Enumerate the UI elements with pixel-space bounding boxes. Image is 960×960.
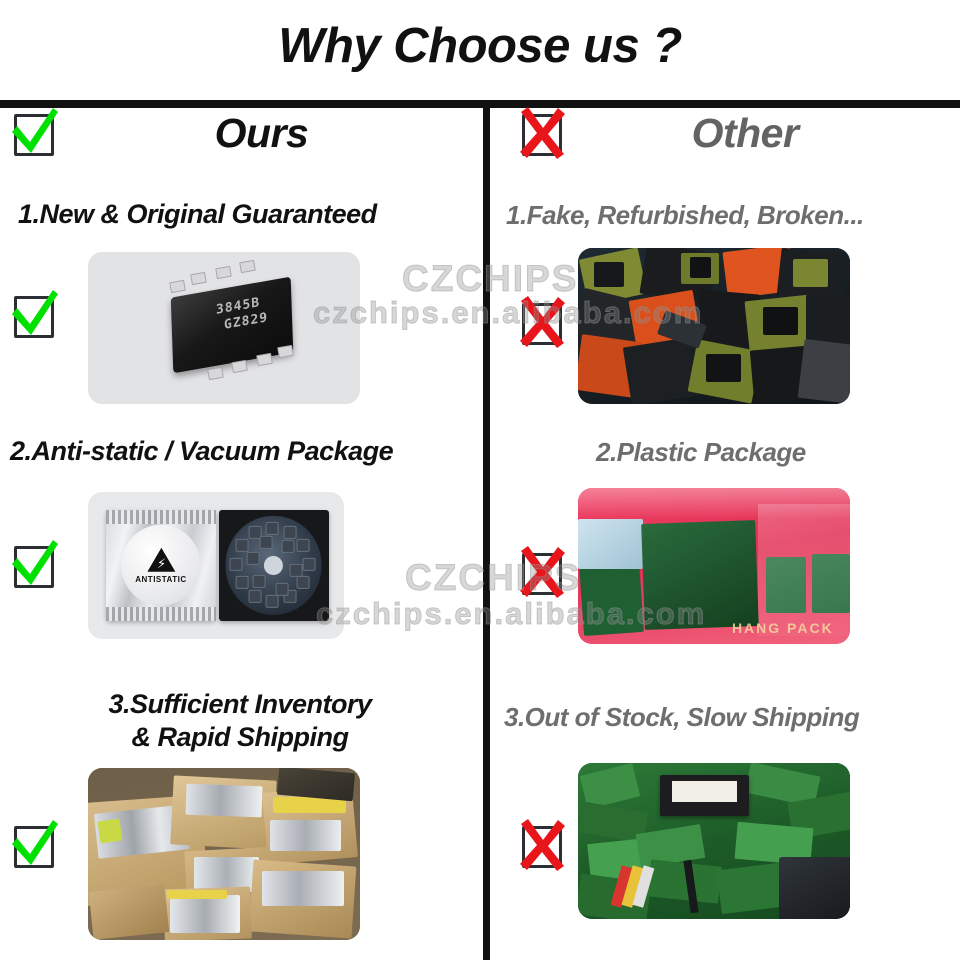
scrap-chips-photo — [578, 248, 850, 404]
cross-icon-header-other — [516, 106, 568, 160]
antistatic-label-disc: ⚡ ANTISTATIC — [121, 525, 200, 605]
cross-glyph — [516, 295, 568, 349]
row-2-left-text: 2.Anti-static / Vacuum Package — [10, 437, 478, 466]
component-reel — [219, 510, 329, 622]
esd-warning-icon: ⚡ — [147, 547, 175, 571]
chip-photo: 3845B GZ829 — [88, 252, 360, 404]
cross-icon-row-2 — [516, 545, 568, 599]
antistatic-bag: ⚡ ANTISTATIC — [106, 510, 216, 622]
cross-icon-row-1 — [516, 295, 568, 349]
column-heading-ours: Ours — [0, 110, 483, 157]
check-icon-row-1 — [8, 288, 60, 342]
plastic-bag-pcb-photo: HANG PACK — [578, 488, 850, 644]
page-title: Why Choose us ? — [0, 18, 960, 74]
check-glyph — [8, 288, 60, 342]
why-choose-us-infographic: Why Choose us ? Ours Other — [0, 0, 960, 960]
check-glyph — [8, 106, 60, 160]
module-label — [672, 781, 737, 802]
row-3-right-text: 3.Out of Stock, Slow Shipping — [504, 703, 956, 731]
black-module — [660, 775, 750, 816]
reel-hub — [264, 556, 283, 576]
reel-disc — [225, 516, 322, 614]
pcb-scrap-photo — [578, 763, 850, 919]
row-3-left-text-line-1: 3.Sufficient Inventory — [40, 690, 440, 719]
inventory-boxes-photo — [88, 768, 360, 940]
check-icon-header-ours — [8, 106, 60, 160]
column-divider — [483, 104, 490, 960]
check-glyph — [8, 818, 60, 872]
cross-glyph — [516, 106, 568, 160]
cross-glyph — [516, 545, 568, 599]
plastic-pack-label: HANG PACK — [732, 620, 834, 636]
row-2-right-text: 2.Plastic Package — [596, 438, 956, 466]
check-glyph — [8, 538, 60, 592]
check-icon-row-2 — [8, 538, 60, 592]
cross-icon-row-3 — [516, 818, 568, 872]
row-3-left-text-line-2: & Rapid Shipping — [40, 723, 440, 752]
cross-glyph — [516, 818, 568, 872]
antistatic-bag-and-reel-photo: ⚡ ANTISTATIC — [88, 492, 344, 639]
antistatic-label-text: ANTISTATIC — [135, 574, 186, 583]
check-icon-row-3 — [8, 818, 60, 872]
row-1-left-text: 1.New & Original Guaranteed — [18, 200, 473, 229]
row-1-right-text: 1.Fake, Refurbished, Broken... — [506, 201, 958, 229]
